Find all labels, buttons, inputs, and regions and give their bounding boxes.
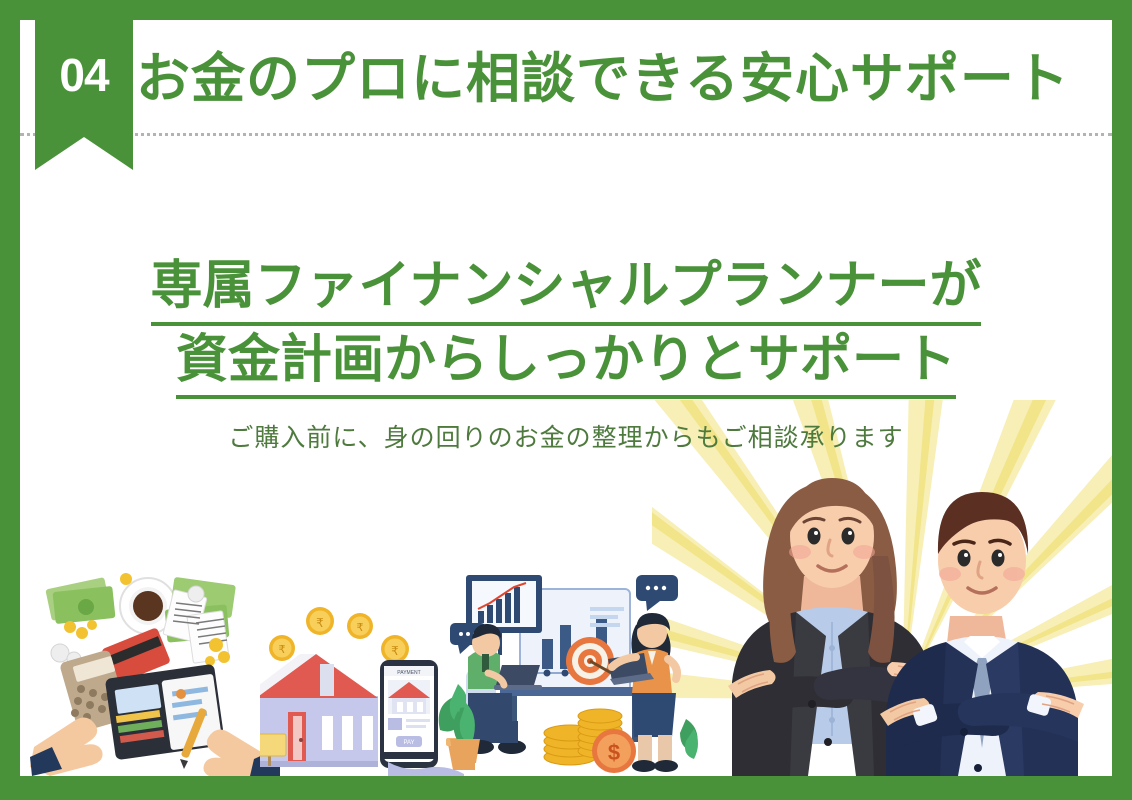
svg-text:₹: ₹: [279, 644, 286, 656]
money-planning-illustration: [30, 561, 280, 776]
header-dotted-divider: [20, 133, 1112, 136]
headline-line-1: 専属ファイナンシャルプランナーが: [151, 252, 982, 326]
smartphone-icon: PAYMENT PAY: [380, 660, 438, 768]
business-analytics-illustration: $: [450, 561, 700, 776]
financial-advisors-photo: [692, 436, 1112, 776]
dollar-coin-symbol: $: [608, 740, 620, 765]
sub-copy: ご購入前に、身の回りのお金の整理からもご相談承ります: [20, 421, 1112, 456]
section-number-ribbon: 04: [35, 20, 133, 170]
svg-text:₹: ₹: [391, 644, 399, 658]
coin-icon: ₹ ₹ ₹ ₹: [269, 607, 409, 663]
slide-canvas: 04 お金のプロに相談できる安心サポート 専属ファイナンシャルプランナーが 資金…: [20, 20, 1112, 776]
main-copy-block: 専属ファイナンシャルプランナーが 資金計画からしっかりとサポート ご購入前に、身…: [20, 252, 1112, 456]
svg-text:₹: ₹: [357, 622, 364, 634]
house-payment-illustration: ₹ ₹ ₹ ₹: [260, 576, 475, 776]
chat-bubble-icon: [636, 575, 678, 611]
coin-stack-icon: $: [544, 709, 636, 773]
hand-icon: [30, 717, 103, 776]
page-title: お金のプロに相談できる安心サポート: [136, 46, 1070, 114]
svg-text:₹: ₹: [316, 616, 324, 630]
phone-screen-header: PAYMENT: [397, 670, 420, 676]
section-number: 04: [35, 52, 133, 98]
illustration-strip: ₹ ₹ ₹ ₹: [20, 446, 1112, 776]
banknote-icon: [45, 577, 115, 624]
slide-root: 04 お金のプロに相談できる安心サポート 専属ファイナンシャルプランナーが 資金…: [0, 0, 1132, 800]
phone-pay-button-label: PAY: [403, 740, 414, 746]
headline-line-2: 資金計画からしっかりとサポート: [176, 326, 956, 400]
wallet-icon: [105, 664, 225, 761]
